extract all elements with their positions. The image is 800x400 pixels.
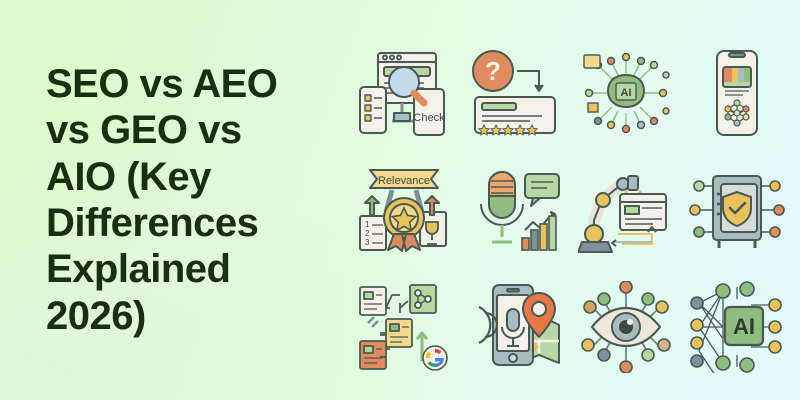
- page-title: SEO vs AEO vs GEO vs AIO (Key Difference…: [46, 61, 340, 339]
- rank-1-label: 1: [365, 220, 370, 229]
- question-answer-card-icon: ?: [459, 34, 570, 151]
- voice-local-map-icon: [459, 269, 570, 386]
- relevance-label: Relevance: [378, 175, 430, 187]
- title-block: SEO vs AEO vs GEO vs AIO (Key Difference…: [0, 61, 340, 339]
- check-label: Check: [413, 112, 445, 124]
- rank-2-label: 2: [365, 229, 370, 238]
- question-mark-label: ?: [485, 56, 501, 86]
- relevance-medal-icon: Relevance 1 2 3: [348, 151, 459, 268]
- icon-grid: Check ?: [348, 34, 792, 386]
- voice-search-growth-icon: [459, 151, 570, 268]
- secure-vault-shield-icon: [681, 151, 792, 268]
- seo-comparison-banner: SEO vs AEO vs GEO vs AIO (Key Difference…: [0, 0, 800, 400]
- seo-search-devices-icon: Check: [348, 34, 459, 151]
- phone-neural-network-icon: [681, 34, 792, 151]
- ai-brain-network-icon: AI: [570, 34, 681, 151]
- content-graph-google-icon: [348, 269, 459, 386]
- robot-arm-automation-icon: [570, 151, 681, 268]
- ai-chip-network-icon: AI: [681, 269, 792, 386]
- ai-chip-label: AI: [733, 314, 755, 339]
- ai-brain-label: AI: [620, 87, 631, 99]
- rank-3-label: 3: [365, 238, 370, 247]
- visibility-eye-network-icon: [570, 269, 681, 386]
